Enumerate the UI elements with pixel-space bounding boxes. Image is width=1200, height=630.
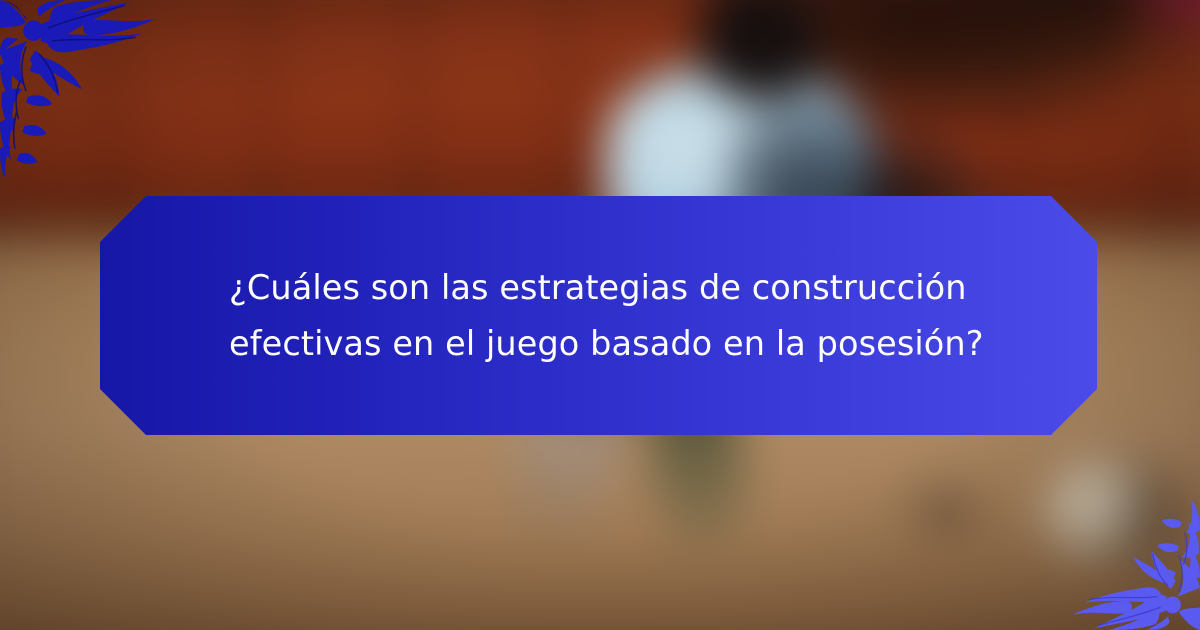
quote-card: ¿Cuáles son las estrategias de construcc… xyxy=(0,0,1200,630)
headline-banner: ¿Cuáles son las estrategias de construcc… xyxy=(100,196,1097,435)
headline-text: ¿Cuáles son las estrategias de construcc… xyxy=(100,260,1081,372)
